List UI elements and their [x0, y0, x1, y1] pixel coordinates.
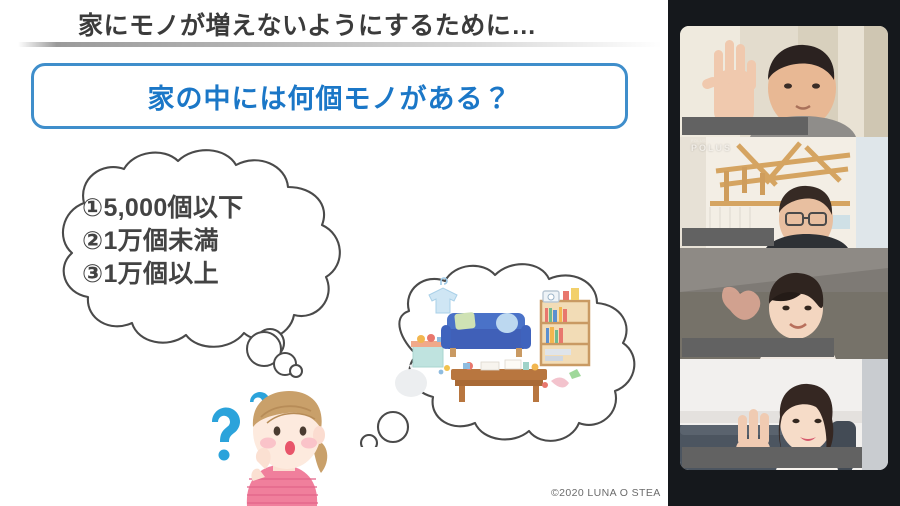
video-tile-participant-1[interactable]: [680, 26, 888, 137]
polus-watermark: POLUS: [691, 143, 732, 153]
video-conference-panel: POLUS HOUSE POLUS: [668, 0, 900, 506]
participant-name-bar: [682, 447, 862, 468]
participant-name-bar: [682, 228, 774, 246]
room-thought-bubble: [355, 255, 645, 447]
thinking-woman-illustration: [195, 383, 345, 506]
options-list: ①5,000個以下 ②1万個未満 ③1万個以上: [82, 192, 342, 291]
video-tile-participant-3[interactable]: [680, 248, 888, 359]
option-2: ②1万個未満: [82, 225, 342, 258]
page-title: 家にモノが増えないようにするために…: [78, 6, 537, 42]
copyright-text: ©2020 LUNA O STEA: [551, 487, 661, 499]
slide-with-video-conference: 家にモノが増えないようにするために… 家の中には何個モノがある？ ①5,000個…: [0, 0, 900, 506]
question-box: 家の中には何個モノがある？: [31, 63, 628, 129]
video-tile-participant-2[interactable]: POLUS HOUSE POLUS: [680, 137, 888, 248]
bubble-trail: [243, 330, 313, 382]
title-divider: [18, 42, 662, 47]
option-1: ①5,000個以下: [82, 192, 342, 225]
video-tile-participant-4[interactable]: [680, 359, 888, 470]
participant-name-bar: [682, 117, 808, 135]
question-box-text: 家の中には何個モノがある？: [148, 77, 512, 116]
presentation-slide: 家にモノが増えないようにするために… 家の中には何個モノがある？ ①5,000個…: [0, 0, 668, 506]
option-3: ③1万個以上: [82, 258, 342, 291]
video-tile-stack: POLUS HOUSE POLUS: [680, 26, 888, 470]
participant-name-bar: [682, 338, 834, 357]
